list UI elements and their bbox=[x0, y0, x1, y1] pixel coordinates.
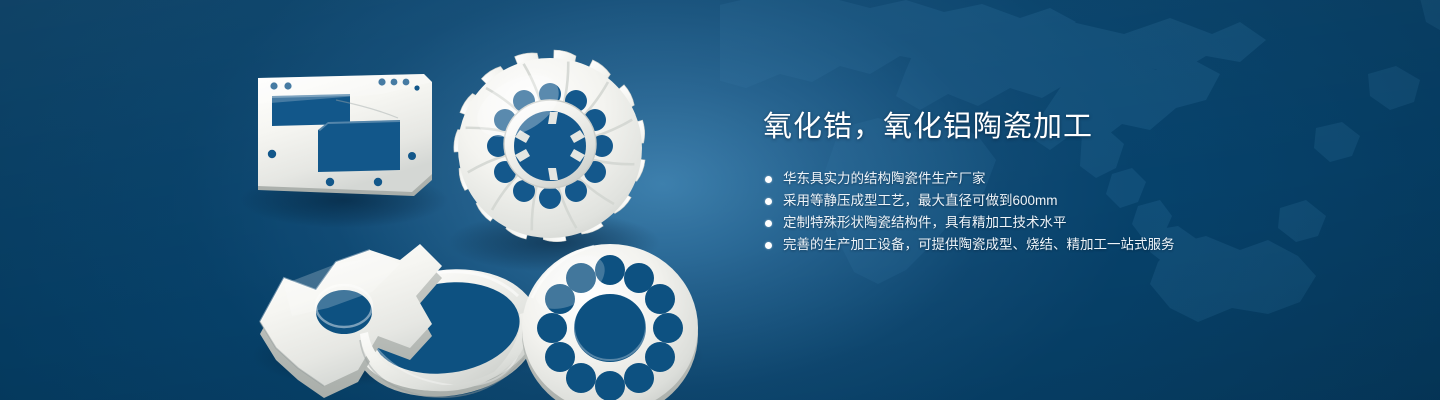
ceramic-impeller-part bbox=[452, 48, 650, 246]
list-item: 定制特殊形状陶瓷结构件，具有精加工技术水平 bbox=[763, 212, 1403, 234]
list-item: 华东具实力的结构陶瓷件生产厂家 bbox=[763, 168, 1403, 190]
list-item-label: 定制特殊形状陶瓷结构件，具有精加工技术水平 bbox=[783, 212, 1067, 234]
list-item-label: 华东具实力的结构陶瓷件生产厂家 bbox=[783, 168, 986, 190]
bullet-dot-icon bbox=[765, 242, 772, 249]
ceramic-parts-photo bbox=[232, 34, 722, 400]
list-item: 完善的生产加工设备，可提供陶瓷成型、烧结、精加工一站式服务 bbox=[763, 234, 1403, 256]
feature-list: 华东具实力的结构陶瓷件生产厂家 采用等静压成型工艺，最大直径可做到600mm 定… bbox=[763, 168, 1403, 256]
hero-banner: 氧化锆，氧化铝陶瓷加工 华东具实力的结构陶瓷件生产厂家 采用等静压成型工艺，最大… bbox=[0, 0, 1440, 400]
bullet-dot-icon bbox=[765, 176, 772, 183]
list-item: 采用等静压成型工艺，最大直径可做到600mm bbox=[763, 190, 1403, 212]
banner-text-column: 氧化锆，氧化铝陶瓷加工 华东具实力的结构陶瓷件生产厂家 采用等静压成型工艺，最大… bbox=[763, 108, 1403, 256]
page-title: 氧化锆，氧化铝陶瓷加工 bbox=[763, 108, 1403, 146]
list-item-label: 采用等静压成型工艺，最大直径可做到600mm bbox=[783, 190, 1058, 212]
ceramic-plate-part bbox=[258, 74, 432, 196]
bullet-dot-icon bbox=[765, 220, 772, 227]
list-item-label: 完善的生产加工设备，可提供陶瓷成型、烧结、精加工一站式服务 bbox=[783, 234, 1175, 256]
bullet-dot-icon bbox=[765, 198, 772, 205]
ceramic-parts-illustration bbox=[232, 34, 722, 400]
